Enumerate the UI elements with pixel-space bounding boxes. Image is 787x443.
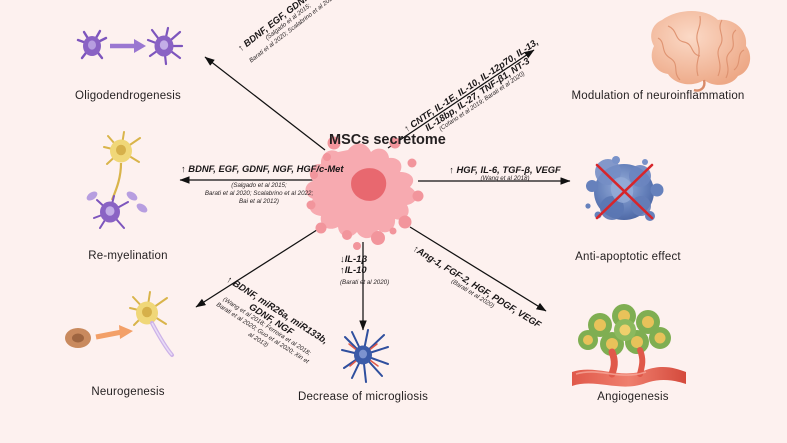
myelinated-neuron-icon <box>85 132 149 228</box>
blood-vessel-sprouting-icon <box>572 304 686 387</box>
arrow-citation-microgliosis: (Barati et al 2020) <box>340 279 420 287</box>
outcome-label-decrease-microgliosis: Decrease of microgliosis <box>288 391 438 403</box>
brain-icon <box>651 11 750 91</box>
arrow-label-angiogenesis: ↑Ang-1, FGF-2, HGF, PDGF, VEGF (Barati e… <box>403 240 547 339</box>
arrow-citation-neuroinflammation: (Cofano et al 2019; Barati et al 2020) <box>406 49 558 155</box>
outcome-label-remyelination: Re-myelination <box>58 250 198 262</box>
oligodendrocyte-differentiation-icon <box>78 28 182 64</box>
arrow-factors-microgliosis-line2: ↑IL-10 <box>340 264 420 275</box>
arrow-factors-anti-apoptotic: ↑ HGF, IL-6, TGF-β, VEGF <box>435 164 575 175</box>
apoptotic-cell-crossed-out-icon <box>585 156 663 221</box>
outcome-label-modulation-neuroinflammation: Modulation of neuroinflammation <box>548 90 768 102</box>
arrow-label-neuroinflammation: ↑ CNTF, IL-1E, IL-10, IL-12p70, IL-13, I… <box>394 31 558 155</box>
outcome-label-neurogenesis: Neurogenesis <box>58 386 198 398</box>
arrow-label-anti-apoptotic: ↑ HGF, IL-6, TGF-β, VEGF (Wang et al 201… <box>435 164 575 183</box>
arrow-citation-remyelination-line2: Barati et al 2020; Scalabrino et al 2022… <box>181 190 337 198</box>
arrow-citation-remyelination: (Salgado et al 2015; Barati et al 2020; … <box>181 182 337 205</box>
arrow-citation-angiogenesis: (Barati et al 2020) <box>403 249 542 339</box>
diagram-graphics <box>0 0 787 443</box>
outcome-label-anti-apoptotic: Anti-apoptotic effect <box>548 251 708 263</box>
outcome-label-angiogenesis: Angiogenesis <box>568 391 698 403</box>
arrow-factors-remyelination: ↑ BDNF, EGF, GDNF, NGF, HGF/c-Met <box>181 163 337 174</box>
microglia-icon <box>342 330 388 382</box>
outcome-label-oligodendrogenesis: Oligodendrogenesis <box>58 90 198 102</box>
arrow-factors-neuroinflammation-line2: IL-18bp, IL-27, TNF-β1, NT-3 <box>400 40 554 148</box>
arrow-label-oligodendrogenesis: ↑ BDNF, EGF, GDNF, NGF (Salgado et al 20… <box>213 0 362 83</box>
arrow-citation-remyelination-line3: Bai et al 2012) <box>181 198 337 206</box>
arrow-label-remyelination: ↑ BDNF, EGF, GDNF, NGF, HGF/c-Met <box>181 163 337 174</box>
red-cross-mark <box>597 165 652 218</box>
arrow-label-microgliosis: ↓IL-1β ↑IL-10 (Barati et al 2020) <box>340 253 420 287</box>
arrow-factors-microgliosis-line1: ↓IL-1β <box>340 253 420 264</box>
arrow-citation-remyelination-line1: (Salgado et al 2015; <box>181 182 337 190</box>
figure-canvas: MSCs secretome Oligodendrogenesis Re-mye… <box>0 0 787 443</box>
neuron-growth-icon <box>65 292 172 355</box>
arrow-factors-neuroinflammation-line1: ↑ CNTF, IL-1E, IL-10, IL-12p70, IL-13, <box>394 31 548 139</box>
arrow-factors-angiogenesis: ↑Ang-1, FGF-2, HGF, PDGF, VEGF <box>407 240 547 332</box>
arrow-label-neurogenesis: ↑ BDNF, miR26a, miR133b, GDNF, NGF (Wang… <box>189 262 348 386</box>
arrow-citation-anti-apoptotic: (Wang et al 2018) <box>435 175 575 183</box>
